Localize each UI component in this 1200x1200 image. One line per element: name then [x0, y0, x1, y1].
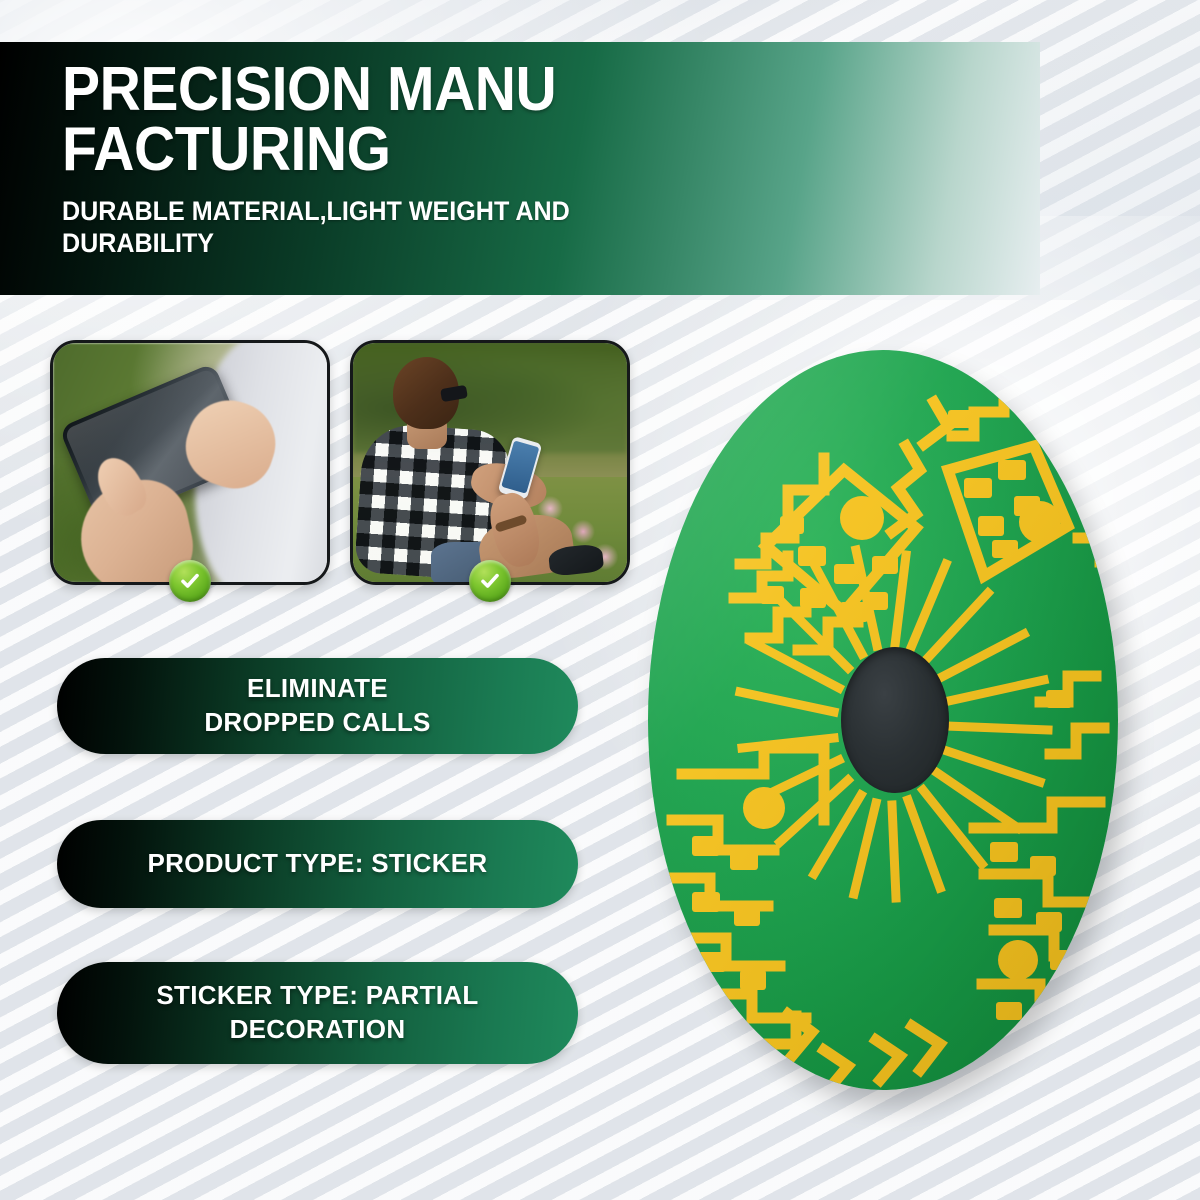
photo-man-using-phone-in-meadow	[353, 343, 627, 582]
photo-card-man-meadow[interactable]	[350, 340, 630, 585]
feature-pill-product-type[interactable]: PRODUCT TYPE: STICKER	[57, 820, 578, 908]
product-marketing-card: PRECISION MANU FACTURING DURABLE MATERIA…	[0, 0, 1200, 1200]
page-subtitle: DURABLE MATERIAL,LIGHT WEIGHT AND DURABI…	[62, 196, 657, 260]
header-banner: PRECISION MANU FACTURING DURABLE MATERIA…	[0, 42, 1040, 295]
page-title: PRECISION MANU FACTURING	[62, 60, 761, 180]
photo-card-hands-phone[interactable]	[50, 340, 330, 585]
feature-pill-eliminate-dropped-calls[interactable]: ELIMINATEDROPPED CALLS	[57, 658, 578, 754]
check-icon	[469, 560, 511, 602]
product-image[interactable]	[648, 350, 1136, 1100]
photo-gallery	[50, 340, 630, 585]
pcb-center-hub	[841, 647, 949, 793]
pcb-disc	[648, 350, 1118, 1090]
feature-pill-sticker-type[interactable]: STICKER TYPE: PARTIALDECORATION	[57, 962, 578, 1064]
check-icon	[169, 560, 211, 602]
photo-hands-holding-smartphone	[53, 343, 327, 582]
